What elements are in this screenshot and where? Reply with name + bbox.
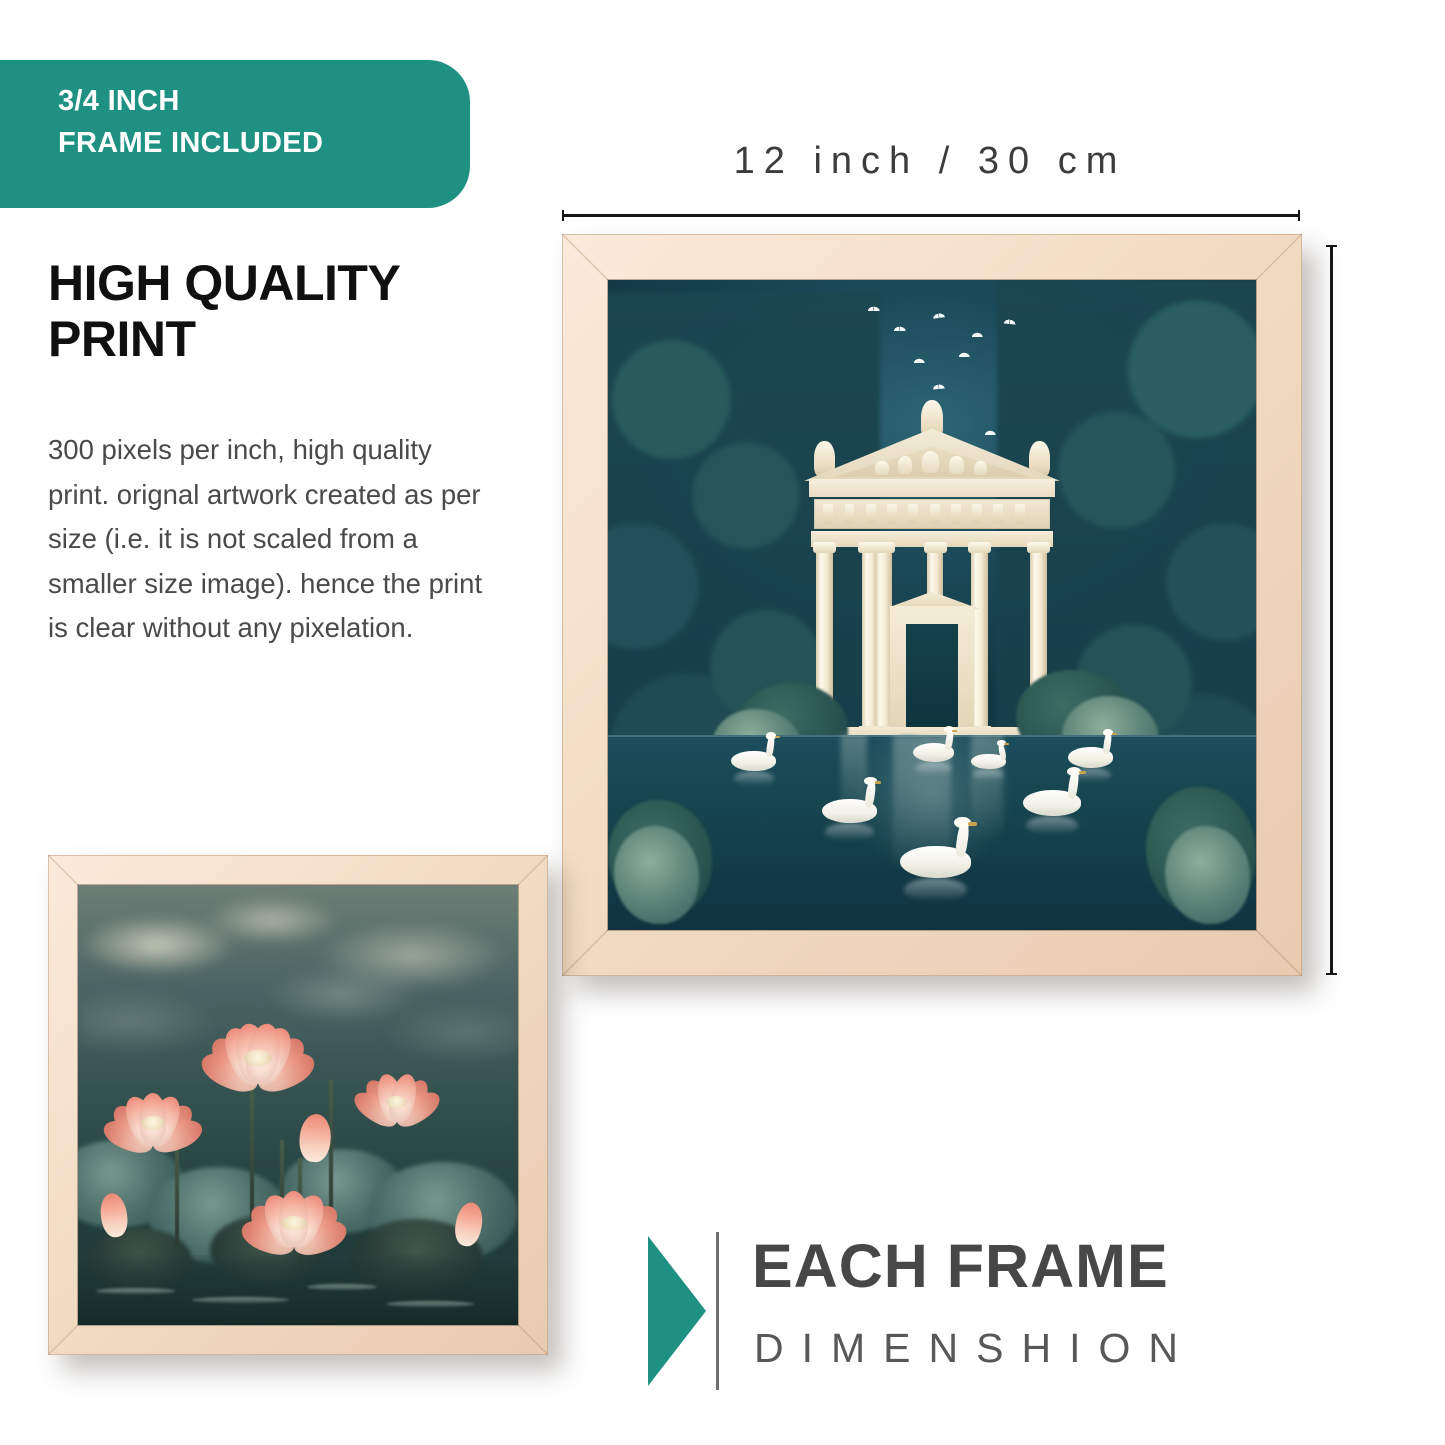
lotus-flower xyxy=(100,1061,206,1145)
frame-included-badge: 3/4 INCH FRAME INCLUDED xyxy=(0,60,470,208)
triangle-icon xyxy=(648,1236,706,1386)
shrub xyxy=(1165,826,1249,924)
pediment-figure xyxy=(875,461,888,476)
artwork-temple-swans xyxy=(608,280,1256,930)
swan xyxy=(1068,735,1113,768)
logo-title: EACH FRAME xyxy=(752,1236,1169,1297)
pediment-figure xyxy=(898,456,913,475)
swan xyxy=(1023,774,1081,816)
framed-artwork-main xyxy=(562,234,1302,976)
bird-icon xyxy=(971,332,984,337)
swan xyxy=(913,732,954,762)
feature-headline: HIGH QUALITY PRINT xyxy=(48,255,468,367)
bird-icon xyxy=(867,306,880,311)
pediment-figure xyxy=(949,456,964,475)
shrub xyxy=(614,826,698,924)
bird-icon xyxy=(932,312,946,319)
lotus-flower xyxy=(236,1158,350,1246)
swan xyxy=(900,826,971,878)
cornice xyxy=(809,479,1055,498)
swan xyxy=(971,745,1006,770)
height-dimension-line xyxy=(1330,245,1333,975)
bird-icon xyxy=(958,352,971,357)
feature-body-text: 300 pixels per inch, high quality print.… xyxy=(48,428,488,651)
artwork-lotus xyxy=(78,885,518,1325)
frieze xyxy=(814,499,1050,529)
badge-line-1: 3/4 INCH xyxy=(58,80,470,122)
badge-line-2: FRAME INCLUDED xyxy=(58,122,470,164)
pediment-figure xyxy=(974,461,987,476)
bird-icon xyxy=(893,326,906,331)
pediment-figure xyxy=(922,451,939,473)
framed-artwork-alt xyxy=(48,855,548,1355)
product-infographic: 3/4 INCH FRAME INCLUDED HIGH QUALITY PRI… xyxy=(0,0,1445,1445)
lotus-flower xyxy=(351,1043,443,1122)
bird-icon xyxy=(932,383,945,389)
width-dimension-label: 12 inch / 30 cm xyxy=(560,140,1300,183)
logo-subtitle: DIMENSHION xyxy=(754,1328,1196,1369)
temple-doorway xyxy=(906,624,958,727)
lotus-flower xyxy=(197,986,320,1083)
brand-logo: EACH FRAME DIMENSHION xyxy=(648,1232,1248,1397)
bird-icon xyxy=(913,358,926,363)
width-dimension-line xyxy=(562,214,1300,217)
swan xyxy=(731,738,776,771)
logo-divider xyxy=(716,1232,719,1390)
swan xyxy=(822,784,877,823)
